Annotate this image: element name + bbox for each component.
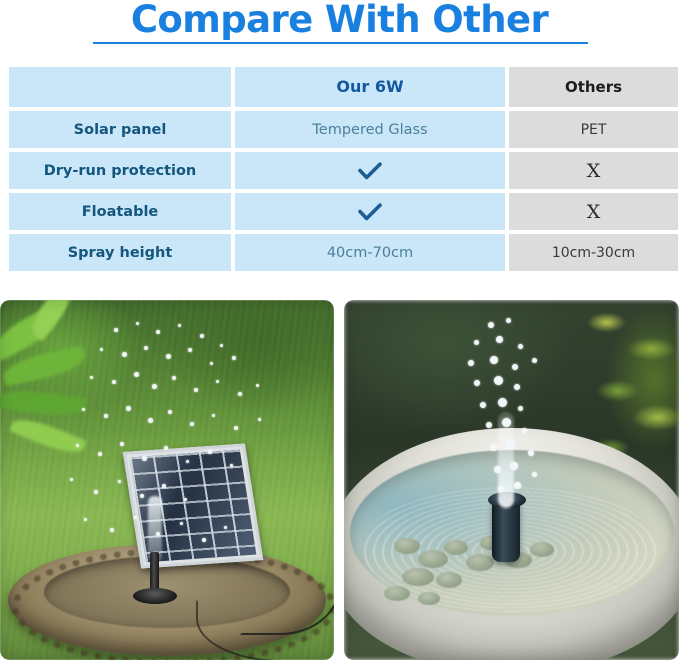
table-row: Floatable X: [9, 193, 678, 230]
solar-panel: [123, 443, 264, 568]
photo-solar-fountain-lawn: [0, 300, 334, 660]
pebble: [466, 554, 494, 571]
pebble: [394, 538, 420, 554]
ours-cell: Tempered Glass: [235, 111, 505, 148]
ours-cell: 40cm-70cm: [235, 234, 505, 271]
ours-cell: [235, 193, 505, 230]
pebble: [384, 586, 410, 601]
others-cell: X: [509, 152, 678, 189]
page-title: Compare With Other: [0, 0, 679, 42]
cross-mark: X: [587, 160, 601, 182]
pebble: [444, 540, 468, 555]
feature-cell: Solar panel: [9, 111, 231, 148]
feature-cell: Dry-run protection: [9, 152, 231, 189]
feature-cell: Spray height: [9, 234, 231, 271]
cross-mark: X: [587, 201, 601, 223]
header-cell-others: Others: [509, 67, 678, 107]
table-row: Solar panel Tempered Glass PET: [9, 111, 678, 148]
pebble: [418, 550, 448, 568]
header-cell-ours: Our 6W: [235, 67, 505, 107]
check-icon: [357, 202, 383, 222]
header-cell-empty: [9, 67, 231, 107]
others-cell: PET: [509, 111, 678, 148]
table-row: Spray height 40cm-70cm 10cm-30cm: [9, 234, 678, 271]
pebble: [418, 592, 440, 605]
table-header-row: Our 6W Others: [9, 67, 678, 107]
title-underline: [93, 42, 588, 44]
pebble: [530, 542, 554, 557]
pebble: [436, 572, 462, 588]
pump-base: [133, 588, 177, 604]
water-spray: [440, 318, 580, 518]
check-icon: [357, 161, 383, 181]
ours-cell: [235, 152, 505, 189]
comparison-table: Our 6W Others Solar panel Tempered Glass…: [5, 63, 679, 275]
others-cell: 10cm-30cm: [509, 234, 678, 271]
pebble: [402, 568, 434, 586]
product-photo-strip: [0, 300, 679, 660]
photo-white-birdbath-fountain: [344, 300, 679, 660]
feature-cell: Floatable: [9, 193, 231, 230]
others-cell: X: [509, 193, 678, 230]
table-row: Dry-run protection X: [9, 152, 678, 189]
page-header: Compare With Other: [0, 0, 679, 58]
